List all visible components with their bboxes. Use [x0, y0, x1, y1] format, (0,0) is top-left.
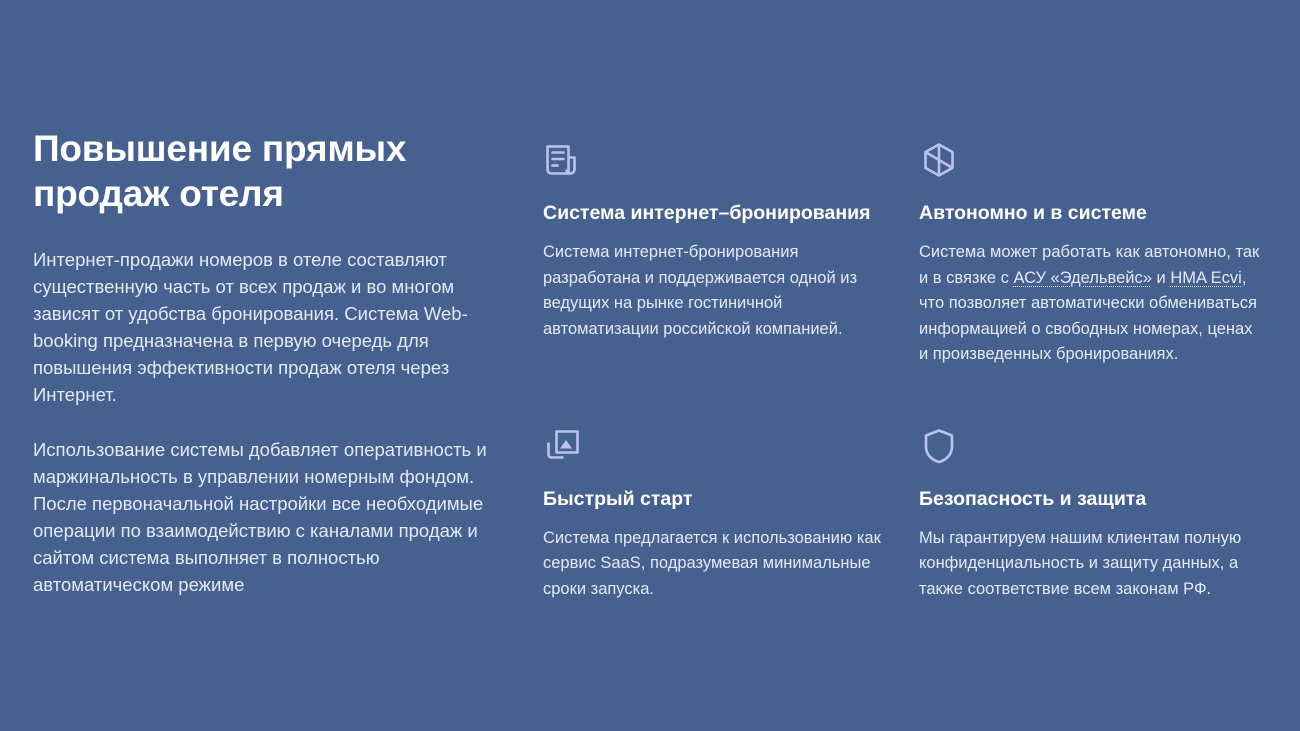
- hero-section: Повышение прямых продаж отеля Интернет-п…: [33, 126, 493, 598]
- landing-page: Повышение прямых продаж отеля Интернет-п…: [0, 0, 1300, 731]
- newspaper-icon: [543, 140, 883, 182]
- feature-title: Быстрый старт: [543, 486, 883, 513]
- hero-paragraph-1: Интернет-продажи номеров в отеле составл…: [33, 246, 493, 408]
- feature-description: Мы гарантируем нашим клиентам полную кон…: [919, 526, 1264, 603]
- images-icon: [543, 426, 883, 468]
- page-title: Повышение прямых продаж отеля: [33, 126, 493, 216]
- features-grid: Система интернет–бронирования Система ин…: [543, 140, 1278, 602]
- feature-description-text: и: [1152, 269, 1170, 287]
- feature-card-quick-start: Быстрый старт Система предлагается к исп…: [543, 426, 883, 603]
- feature-title: Безопасность и защита: [919, 486, 1264, 513]
- feature-card-autonomous: Автономно и в системе Система может рабо…: [919, 140, 1264, 368]
- feature-description: Система может работать как автономно, та…: [919, 240, 1264, 368]
- feature-description: Система интернет-бронирования разработан…: [543, 240, 883, 342]
- feature-title: Автономно и в системе: [919, 200, 1264, 227]
- spellcheck-term-asu: АСУ «Эдельвейс»: [1013, 269, 1151, 287]
- hero-paragraph-2: Использование системы добавляет оператив…: [33, 436, 493, 598]
- feature-card-security: Безопасность и защита Мы гарантируем наш…: [919, 426, 1264, 603]
- spellcheck-term-hma-ecvi: HMA Ecvi: [1170, 269, 1242, 287]
- feature-description: Система предлагается к использованию как…: [543, 526, 883, 603]
- feature-title: Система интернет–бронирования: [543, 200, 883, 227]
- shield-icon: [919, 426, 1264, 468]
- cube-icon: [919, 140, 1264, 182]
- feature-card-booking-system: Система интернет–бронирования Система ин…: [543, 140, 883, 368]
